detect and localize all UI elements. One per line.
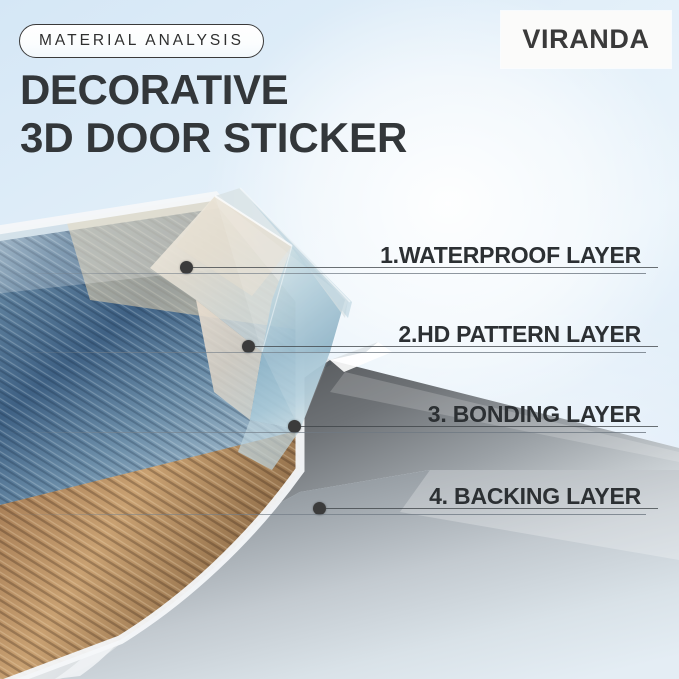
brand-name: VIRANDA [522,24,649,55]
callout-label-backing: 4. BACKING LAYER [429,483,641,509]
title-line-1: DECORATIVE [20,66,407,114]
callout-hd-pattern: 2.HD PATTERN LAYER [398,321,641,347]
callout-backing: 4. BACKING LAYER [429,483,641,509]
brand-logo: VIRANDA [501,11,671,68]
callout-rule-hd-pattern [0,352,646,353]
callout-label-bonding: 3. BONDING LAYER [428,401,641,427]
poster-canvas: MATERIAL ANALYSIS DECORATIVE 3D DOOR STI… [0,0,679,679]
eyebrow-label: MATERIAL ANALYSIS [39,33,244,49]
callout-label-waterproof: 1.WATERPROOF LAYER [380,242,641,268]
eyebrow-badge: MATERIAL ANALYSIS [19,24,264,58]
callout-bonding: 3. BONDING LAYER [428,401,641,427]
callout-label-hd-pattern: 2.HD PATTERN LAYER [398,321,641,347]
title-line-2: 3D DOOR STICKER [20,114,407,162]
callout-rule-bonding [0,432,646,433]
callout-rule-backing [0,514,646,515]
callout-rule-waterproof [0,273,646,274]
callout-waterproof: 1.WATERPROOF LAYER [380,242,641,268]
page-title: DECORATIVE 3D DOOR STICKER [20,66,407,162]
